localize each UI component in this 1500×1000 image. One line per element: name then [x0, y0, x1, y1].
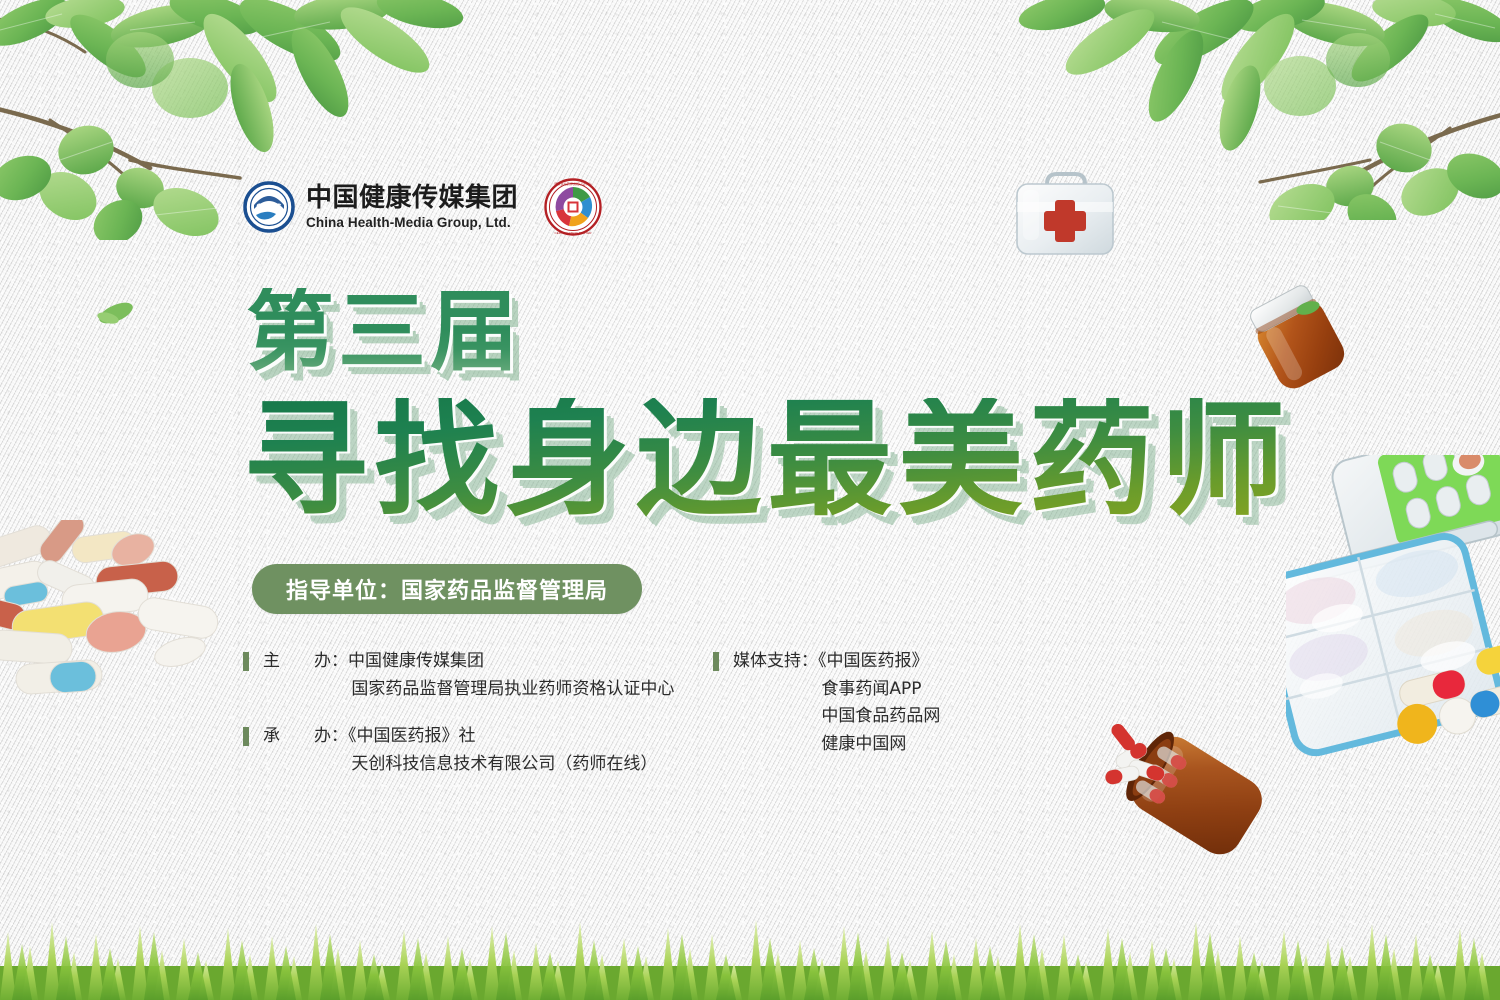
credit-block-undertaker: 承 办：《中国医药报》社 天创科技信息技术有限公司（药师在线）	[243, 723, 713, 778]
leaf-branch-icon	[990, 0, 1500, 220]
credit-block-organizer: 主 办：中国健康传媒集团 国家药品监督管理局执业药师资格认证中心	[243, 648, 713, 703]
grass-band-icon	[0, 908, 1500, 1000]
credit-line-text: 食事药闻APP	[821, 679, 921, 699]
svg-text:CHMG: CHMG	[256, 202, 282, 212]
credit-head: 承 办：《中国医药报》社	[263, 723, 657, 751]
svg-text:CERTIFICATION CENTER: CERTIFICATION CENTER	[555, 231, 593, 235]
leaf-icon	[1295, 300, 1321, 316]
pills-pile-icon	[0, 520, 223, 715]
credit-line-text: 天创科技信息技术有限公司（药师在线）	[351, 754, 657, 774]
chmg-name-en: China Health-Media Group, Ltd.	[306, 216, 518, 230]
credit-marker-icon	[243, 652, 249, 671]
guiding-unit-badge: 指导单位：国家药品监督管理局	[252, 564, 642, 614]
chmg-logo: CHMG 中国健康传媒集团 China Health-Media Group, …	[243, 181, 518, 233]
edition-title: 第三届	[246, 288, 522, 376]
credits-right-column: 媒体支持：《中国医药报》 食事药闻APP 中国食品药品网 健康中国网	[713, 648, 1113, 778]
page-title: 寻找身边最美药师	[243, 398, 1291, 523]
credit-line-text: 国家药品监督管理局执业药师资格认证中心	[351, 679, 674, 699]
credit-line: 食事药闻APP	[733, 676, 940, 704]
credits-left-column: 主 办：中国健康传媒集团 国家药品监督管理局执业药师资格认证中心 承 办：《中国…	[243, 648, 713, 798]
chmg-name-cn: 中国健康传媒集团	[306, 185, 518, 211]
credit-head: 主 办：中国健康传媒集团	[263, 648, 674, 676]
credit-head: 媒体支持：《中国医药报》	[733, 648, 940, 676]
credit-marker-icon	[243, 727, 249, 746]
credit-line: 中国食品药品网	[733, 703, 940, 731]
credit-line-text: 健康中国网	[821, 734, 906, 754]
first-aid-kit-icon	[1005, 162, 1125, 267]
logo-row: CHMG 中国健康传媒集团 China Health-Media Group, …	[243, 176, 604, 238]
credit-line: 国家药品监督管理局执业药师资格认证中心	[263, 676, 674, 704]
spilled-pill-bottle-icon	[1093, 712, 1293, 862]
pill-organizer-icon	[1286, 455, 1500, 767]
credit-block-media: 媒体支持：《中国医药报》 食事药闻APP 中国食品药品网 健康中国网	[713, 648, 1113, 758]
chmg-logo-mark-icon: CHMG	[243, 181, 295, 233]
svg-text:国家执业药师资格认证中心: 国家执业药师资格认证中心	[554, 181, 591, 186]
executive-pharmacist-seal-icon: 国家执业药师资格认证中心 CERTIFICATION CENTER	[542, 176, 604, 238]
poster-root: CHMG 中国健康传媒集团 China Health-Media Group, …	[0, 0, 1500, 1000]
credit-line-text: 中国食品药品网	[821, 706, 940, 726]
credit-line: 健康中国网	[733, 731, 940, 759]
leaf-icon	[96, 300, 136, 326]
pill-bottle-icon	[1236, 272, 1368, 397]
credit-marker-icon	[713, 652, 719, 671]
credit-line: 天创科技信息技术有限公司（药师在线）	[263, 751, 657, 779]
